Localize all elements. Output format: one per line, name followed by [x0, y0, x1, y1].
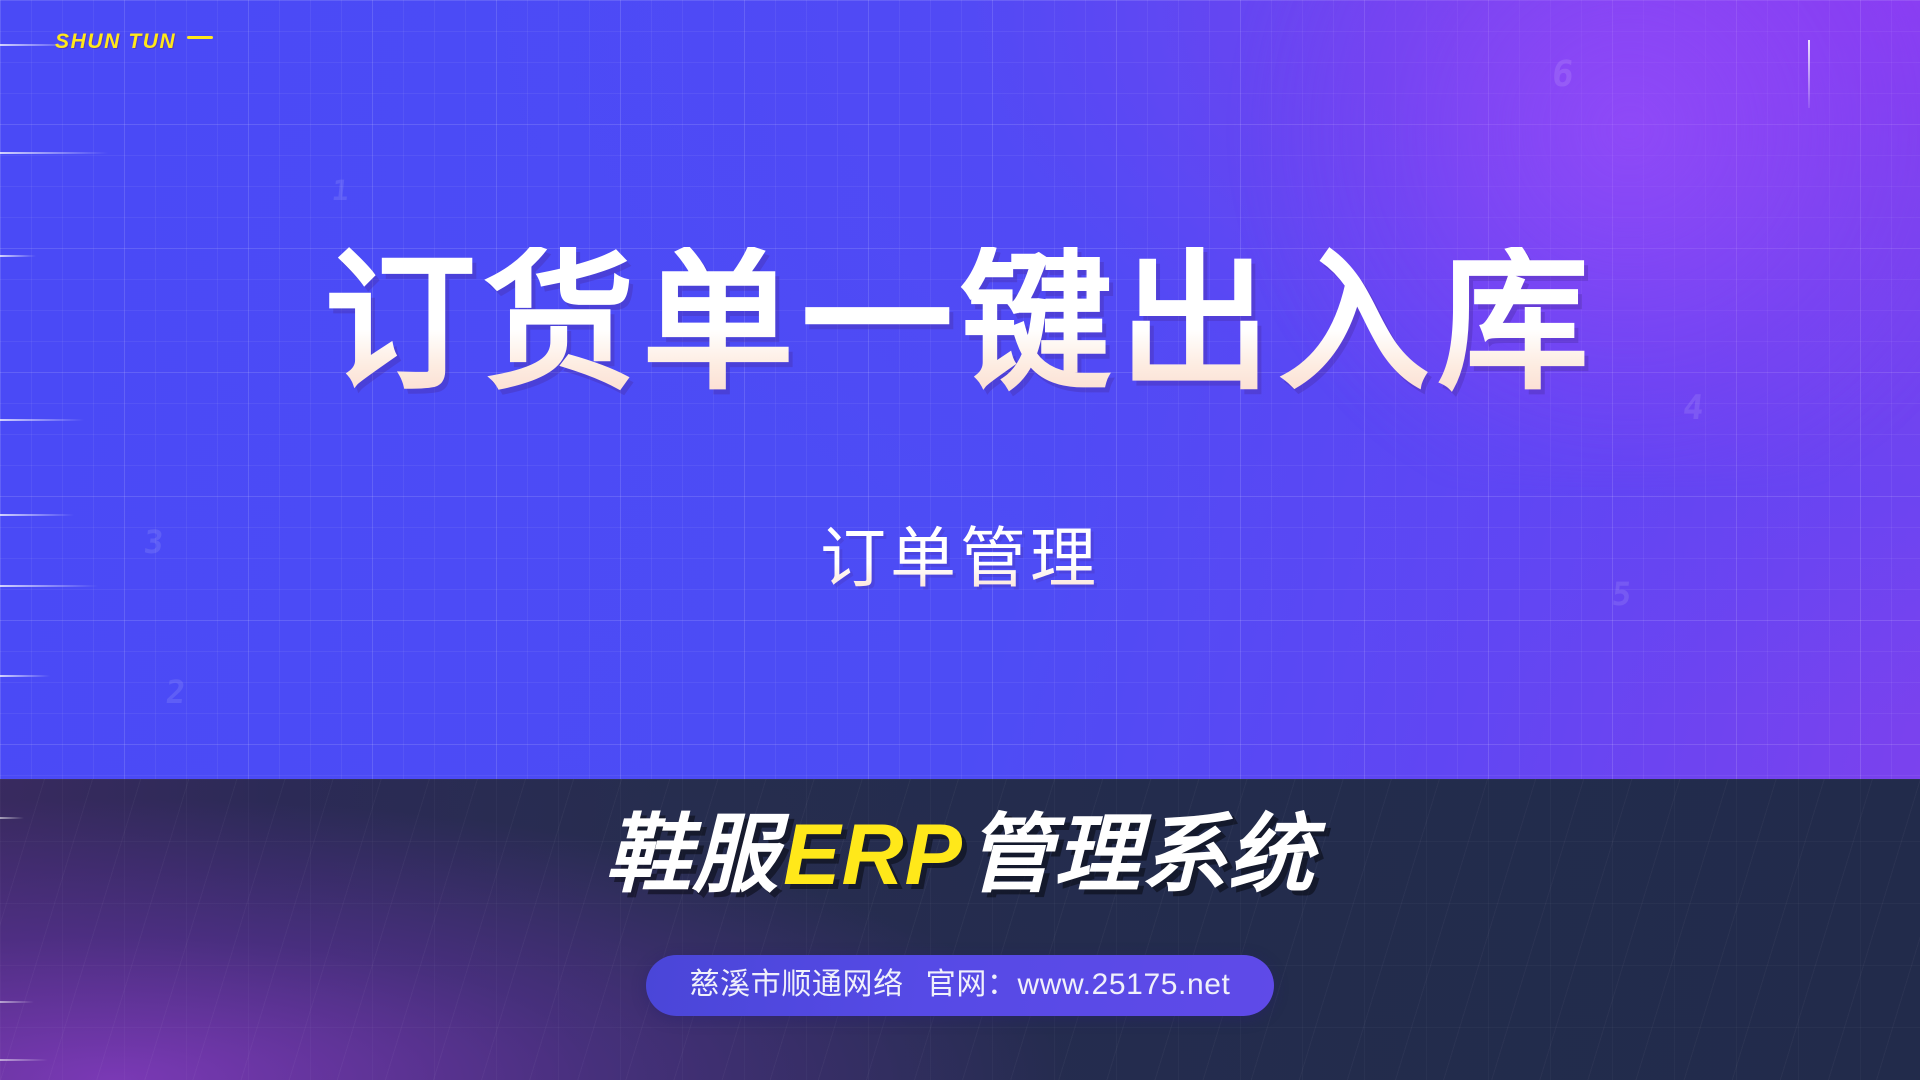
system-name-prefix: 鞋服 [605, 807, 779, 903]
hero-section: 6 4 3 5 2 1 SHUN TUN 订货单一键出入库 订单管理 [0, 0, 1920, 779]
accent-vline [1808, 40, 1810, 108]
system-name-text: 鞋服ERP管理系统 [605, 812, 1315, 898]
edge-tick-mark [0, 419, 84, 421]
decor-digit: 1 [330, 174, 349, 207]
slide-canvas: 6 4 3 5 2 1 SHUN TUN 订货单一键出入库 订单管理 鞋服ERP… [0, 0, 1920, 1080]
website-label: 官网： [926, 968, 1018, 1001]
page-subtitle-text: 订单管理 [820, 525, 1100, 591]
edge-tick-mark [0, 1059, 48, 1061]
page-subtitle: 订单管理 [0, 525, 1920, 591]
edge-tick-mark [0, 675, 50, 677]
page-title-text: 订货单一键出入库 [324, 247, 1596, 399]
contact-pill-container: 慈溪市顺通网络官网：www.25175.net [0, 955, 1920, 1016]
website-url: www.25175.net [1018, 968, 1231, 1001]
system-name-accent: ERP [779, 807, 967, 903]
decor-digit: 6 [1550, 54, 1575, 95]
system-name-suffix: 管理系统 [967, 807, 1315, 903]
logo[interactable]: SHUN TUN [55, 30, 213, 54]
edge-tick-mark [0, 514, 74, 516]
system-name: 鞋服ERP管理系统 [0, 812, 1920, 898]
dash-icon [187, 36, 213, 39]
company-name: 慈溪市顺通网络 [690, 968, 904, 1001]
edge-tick-mark [0, 152, 108, 154]
page-title: 订货单一键出入库 [0, 247, 1920, 399]
logo-text: SHUN TUN [55, 30, 176, 54]
contact-pill[interactable]: 慈溪市顺通网络官网：www.25175.net [646, 955, 1275, 1016]
